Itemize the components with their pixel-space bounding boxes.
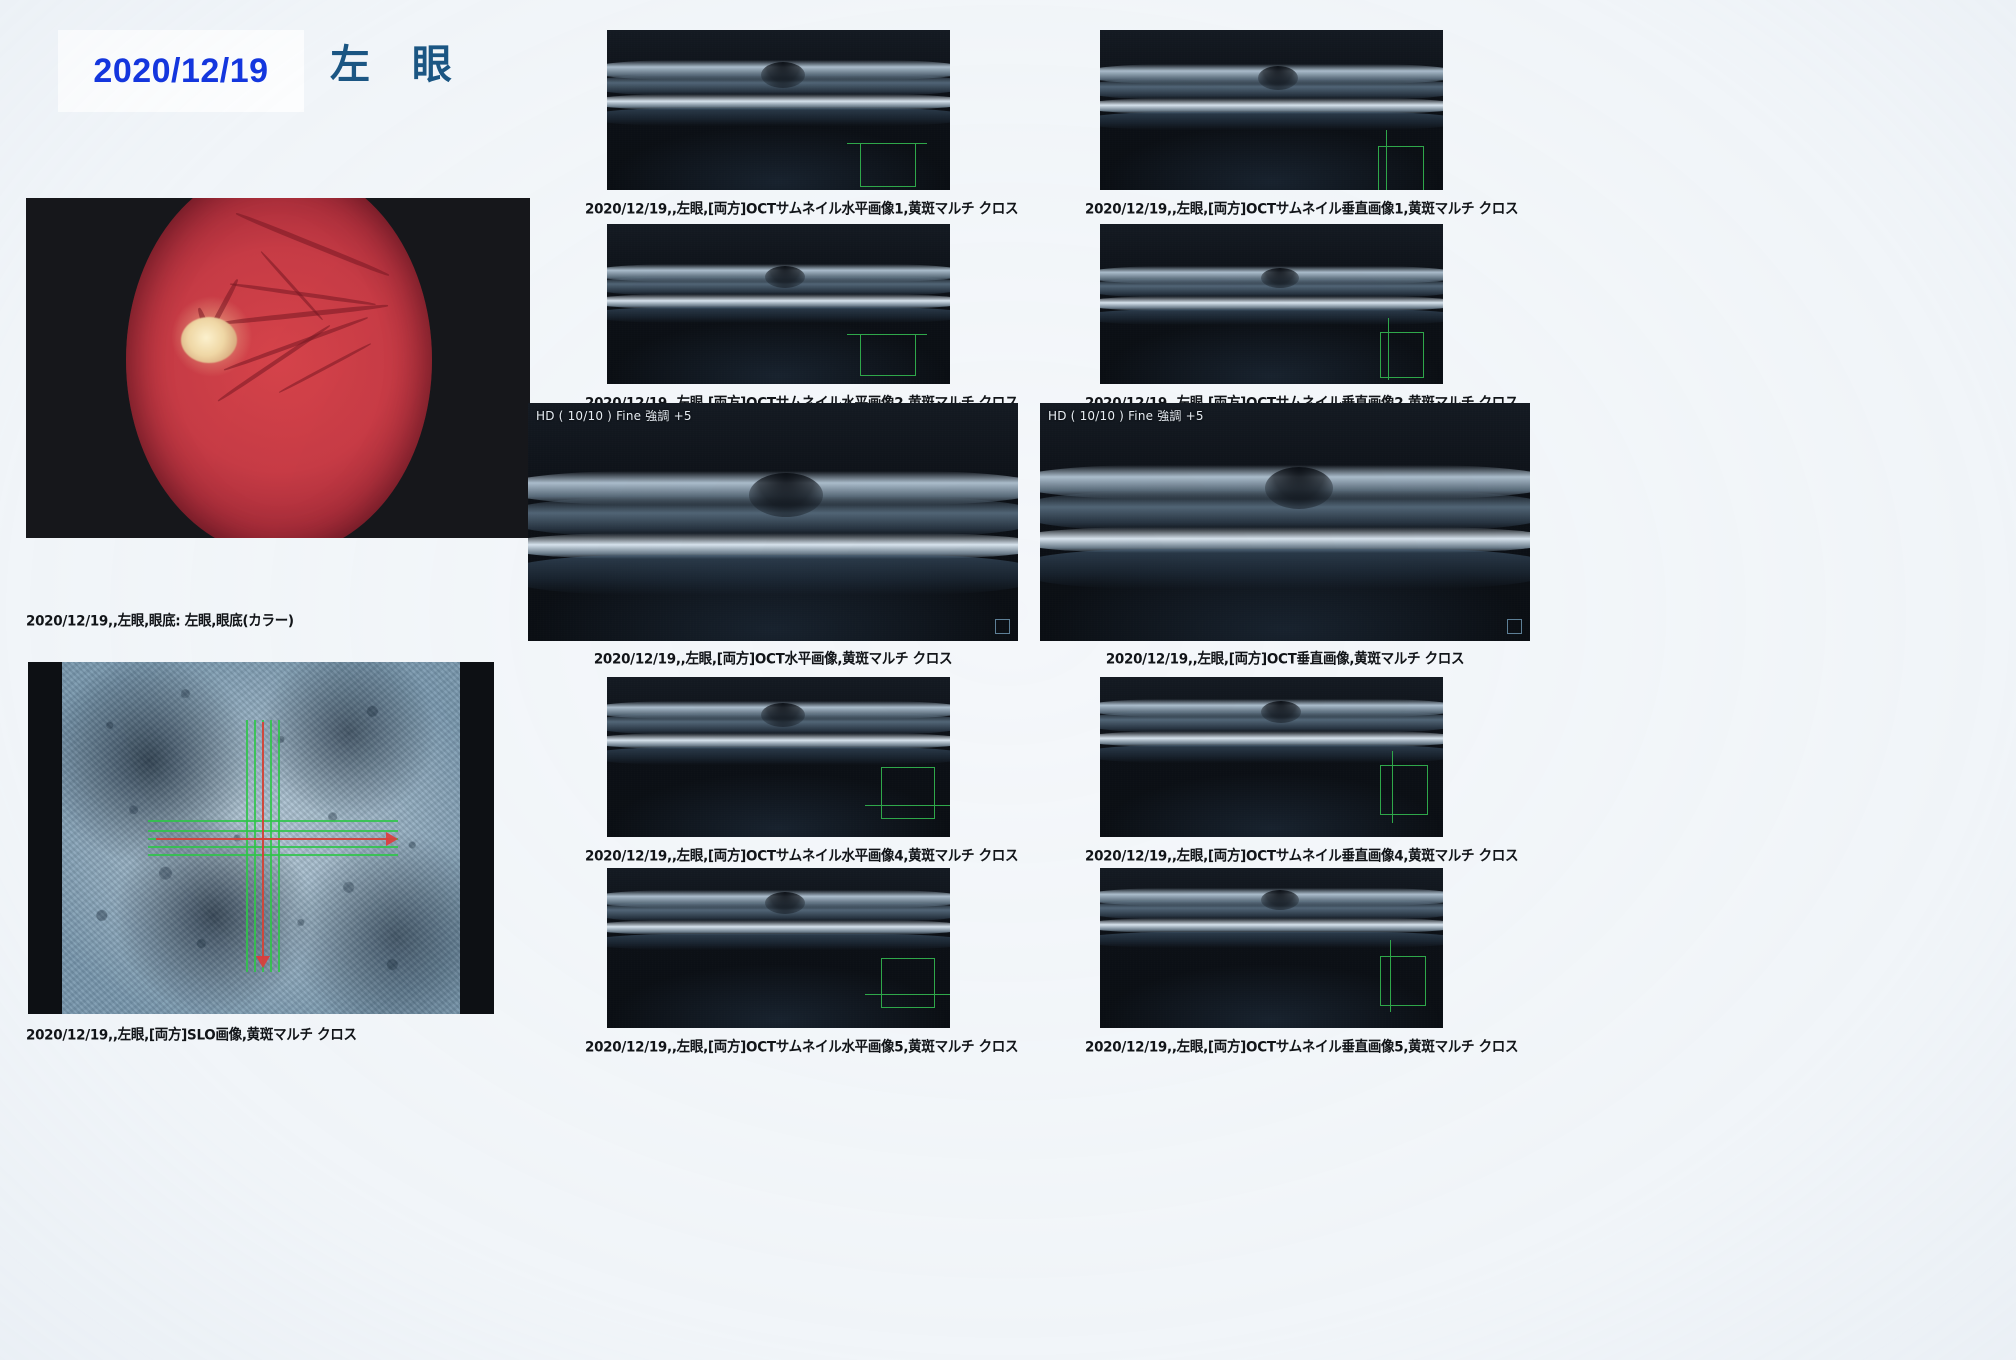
roi-crosshair-h [847, 334, 927, 335]
axis-line-v [262, 722, 264, 958]
roi-crosshair-h [865, 805, 950, 806]
optic-disc [181, 317, 237, 363]
roi-crosshair-v [1392, 751, 1393, 823]
scan-line-v [254, 720, 256, 972]
scan-line-v [246, 720, 248, 972]
oct-thumbnail-v4[interactable] [1100, 677, 1443, 837]
oct-thumbnail-h2[interactable] [607, 224, 950, 384]
date-badge: 2020/12/19 [58, 30, 304, 112]
roi-crosshair-h [847, 143, 927, 144]
scale-marker [1507, 619, 1522, 634]
roi-box [860, 334, 916, 376]
axis-line-h [156, 838, 388, 840]
roi-box [1380, 332, 1424, 378]
oct-thumbnail-h5[interactable] [607, 868, 950, 1028]
roi-crosshair-v [1390, 940, 1391, 1012]
fundus-photo[interactable] [26, 198, 530, 538]
roi-crosshair-h [865, 994, 950, 995]
main-scan-caption-horizontal: 2020/12/19,,左眼,[両方]OCT水平画像,黄斑マルチ クロス [528, 646, 1018, 668]
scan-line-h [148, 830, 398, 832]
slo-caption: 2020/12/19,,左眼,[両方]SLO画像,黄斑マルチ クロス [26, 1022, 357, 1044]
thumbnail-caption-h1: 2020/12/19,,左眼,[両方]OCTサムネイル水平画像1,黄斑マルチ ク… [585, 196, 975, 218]
roi-box [1378, 146, 1424, 190]
roi-box [881, 958, 935, 1008]
fundus-retina-disc [126, 198, 432, 538]
scale-marker [995, 619, 1010, 634]
roi-box [1380, 956, 1426, 1006]
thumbnail-caption-v5: 2020/12/19,,左眼,[両方]OCTサムネイル垂直画像5,黄斑マルチ ク… [1085, 1034, 1475, 1056]
page-title: 左 眼 [330, 32, 466, 90]
exam-date: 2020/12/19 [93, 52, 268, 91]
axis-arrow-right-icon [386, 832, 398, 846]
scan-line-h [148, 820, 398, 822]
thumbnail-caption-v1: 2020/12/19,,左眼,[両方]OCTサムネイル垂直画像1,黄斑マルチ ク… [1085, 196, 1475, 218]
oct-thumbnail-h4[interactable] [607, 677, 950, 837]
oct-thumbnail-h1[interactable] [607, 30, 950, 190]
report-page: 2020/12/19 左 眼 2020/12/19,,左眼,眼底: 左眼,眼底(… [0, 0, 2016, 1360]
roi-box [1380, 765, 1428, 815]
main-scan-caption-vertical: 2020/12/19,,左眼,[両方]OCT垂直画像,黄斑マルチ クロス [1040, 646, 1530, 668]
thumbnail-caption-h5: 2020/12/19,,左眼,[両方]OCTサムネイル水平画像5,黄斑マルチ ク… [585, 1034, 975, 1056]
roi-crosshair-v [1388, 318, 1389, 380]
hd-overlay-horizontal: HD ( 10/10 ) Fine 強調 +5 [536, 407, 692, 424]
oct-main-horizontal[interactable]: HD ( 10/10 ) Fine 強調 +5 [528, 403, 1018, 641]
oct-main-vertical[interactable]: HD ( 10/10 ) Fine 強調 +5 [1040, 403, 1530, 641]
thumbnail-caption-h4: 2020/12/19,,左眼,[両方]OCTサムネイル水平画像4,黄斑マルチ ク… [585, 843, 975, 865]
scan-line-v [270, 720, 272, 972]
scan-line-v [278, 720, 280, 972]
oct-thumbnail-v1[interactable] [1100, 30, 1443, 190]
slo-image[interactable] [28, 662, 494, 1014]
roi-box [881, 767, 935, 819]
thumbnail-caption-v4: 2020/12/19,,左眼,[両方]OCTサムネイル垂直画像4,黄斑マルチ ク… [1085, 843, 1475, 865]
oct-thumbnail-v5[interactable] [1100, 868, 1443, 1028]
fundus-caption: 2020/12/19,,左眼,眼底: 左眼,眼底(カラー) [26, 608, 294, 630]
roi-crosshair-v [1386, 130, 1387, 190]
axis-arrow-down-icon [256, 956, 270, 968]
scan-line-h [148, 846, 398, 848]
scan-line-h [148, 854, 398, 856]
hd-overlay-vertical: HD ( 10/10 ) Fine 強調 +5 [1048, 407, 1204, 424]
roi-box [860, 143, 916, 187]
oct-thumbnail-v2[interactable] [1100, 224, 1443, 384]
